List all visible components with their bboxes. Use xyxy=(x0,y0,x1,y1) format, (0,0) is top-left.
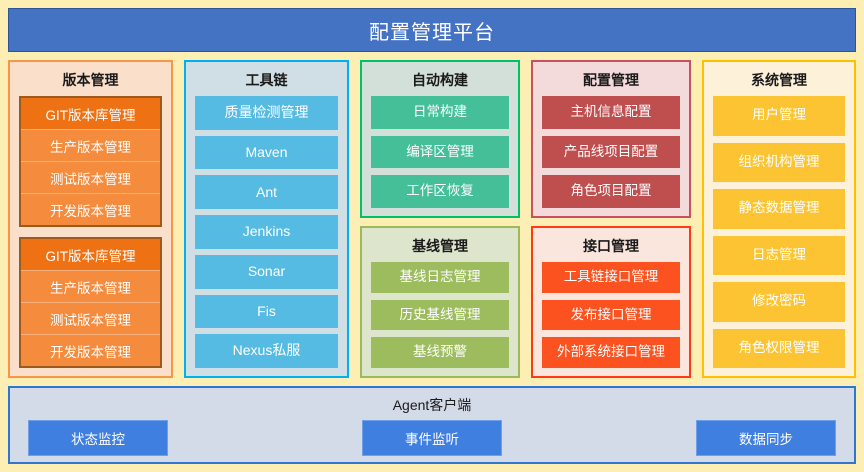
page-title: 配置管理平台 xyxy=(8,8,856,52)
panel-title-toolchain: 工具链 xyxy=(195,67,338,96)
toolchain-item-jenkins[interactable]: Jenkins xyxy=(195,215,338,249)
panel-version-management: 版本管理 GIT版本库管理 生产版本管理 测试版本管理 开发版本管理 GIT版本… xyxy=(8,60,173,378)
column-toolchain: 工具链 质量检测管理 Maven Ant Jenkins Sonar Fis N… xyxy=(184,60,349,378)
version-group-1-item-2[interactable]: 测试版本管理 xyxy=(21,161,160,193)
agent-client-title: Agent客户端 xyxy=(16,392,848,421)
version-group-2-item-3[interactable]: 开发版本管理 xyxy=(21,334,160,366)
column-system-management: 系统管理 用户管理 组织机构管理 静态数据管理 日志管理 修改密码 角色权限管理 xyxy=(702,60,856,378)
version-group-1-header[interactable]: GIT版本库管理 xyxy=(21,98,160,129)
system-item-change-password[interactable]: 修改密码 xyxy=(713,282,845,322)
panel-baseline-management: 基线管理 基线日志管理 历史基线管理 基线预警 xyxy=(360,226,520,378)
panel-title-baseline-management: 基线管理 xyxy=(371,233,509,262)
agent-client-buttons: 状态监控 事件监听 数据同步 xyxy=(16,421,848,454)
agent-button-status-monitor[interactable]: 状态监控 xyxy=(28,420,168,456)
version-group-1: GIT版本库管理 生产版本管理 测试版本管理 开发版本管理 xyxy=(19,96,162,227)
panel-columns: 版本管理 GIT版本库管理 生产版本管理 测试版本管理 开发版本管理 GIT版本… xyxy=(8,60,856,378)
panel-body-config-management: 主机信息配置 产品线项目配置 角色项目配置 xyxy=(542,96,680,208)
system-item-user[interactable]: 用户管理 xyxy=(713,96,845,136)
toolchain-item-fis[interactable]: Fis xyxy=(195,295,338,329)
toolchain-item-ant[interactable]: Ant xyxy=(195,175,338,209)
baseline-item-log[interactable]: 基线日志管理 xyxy=(371,262,509,293)
interface-item-external-system[interactable]: 外部系统接口管理 xyxy=(542,337,680,368)
panel-title-interface-management: 接口管理 xyxy=(542,233,680,262)
version-group-2-item-2[interactable]: 测试版本管理 xyxy=(21,302,160,334)
toolchain-item-sonar[interactable]: Sonar xyxy=(195,255,338,289)
panel-body-interface-management: 工具链接口管理 发布接口管理 外部系统接口管理 xyxy=(542,262,680,368)
panel-body-auto-build: 日常构建 编译区管理 工作区恢复 xyxy=(371,96,509,208)
auto-build-item-workspace-restore[interactable]: 工作区恢复 xyxy=(371,175,509,208)
baseline-item-history[interactable]: 历史基线管理 xyxy=(371,300,509,331)
panel-body-toolchain: 质量检测管理 Maven Ant Jenkins Sonar Fis Nexus… xyxy=(195,96,338,368)
toolchain-item-maven[interactable]: Maven xyxy=(195,136,338,170)
system-item-log[interactable]: 日志管理 xyxy=(713,236,845,276)
column-build-baseline: 自动构建 日常构建 编译区管理 工作区恢复 基线管理 基线日志管理 历史基线管理… xyxy=(360,60,520,378)
column-version-management: 版本管理 GIT版本库管理 生产版本管理 测试版本管理 开发版本管理 GIT版本… xyxy=(8,60,173,378)
interface-item-toolchain[interactable]: 工具链接口管理 xyxy=(542,262,680,293)
page-title-text: 配置管理平台 xyxy=(369,16,495,45)
agent-client-bar: Agent客户端 状态监控 事件监听 数据同步 xyxy=(8,386,856,464)
panel-body-baseline-management: 基线日志管理 历史基线管理 基线预警 xyxy=(371,262,509,368)
panel-title-system-management: 系统管理 xyxy=(713,67,845,96)
baseline-item-alert[interactable]: 基线预警 xyxy=(371,337,509,368)
system-item-role-permission[interactable]: 角色权限管理 xyxy=(713,329,845,369)
auto-build-item-compile-area[interactable]: 编译区管理 xyxy=(371,136,509,169)
panel-system-management: 系统管理 用户管理 组织机构管理 静态数据管理 日志管理 修改密码 角色权限管理 xyxy=(702,60,856,378)
agent-button-event-listener[interactable]: 事件监听 xyxy=(362,420,502,456)
config-item-product-line-project[interactable]: 产品线项目配置 xyxy=(542,136,680,169)
system-item-organization[interactable]: 组织机构管理 xyxy=(713,143,845,183)
config-item-host-info[interactable]: 主机信息配置 xyxy=(542,96,680,129)
version-group-1-item-3[interactable]: 开发版本管理 xyxy=(21,193,160,225)
system-item-static-data[interactable]: 静态数据管理 xyxy=(713,189,845,229)
column-config-interface: 配置管理 主机信息配置 产品线项目配置 角色项目配置 接口管理 工具链接口管理 … xyxy=(531,60,691,378)
toolchain-item-nexus[interactable]: Nexus私服 xyxy=(195,334,338,368)
panel-title-auto-build: 自动构建 xyxy=(371,67,509,96)
panel-title-config-management: 配置管理 xyxy=(542,67,680,96)
panel-toolchain: 工具链 质量检测管理 Maven Ant Jenkins Sonar Fis N… xyxy=(184,60,349,378)
config-item-role-project[interactable]: 角色项目配置 xyxy=(542,175,680,208)
panel-interface-management: 接口管理 工具链接口管理 发布接口管理 外部系统接口管理 xyxy=(531,226,691,378)
panel-title-version-management: 版本管理 xyxy=(19,67,162,96)
panel-body-system-management: 用户管理 组织机构管理 静态数据管理 日志管理 修改密码 角色权限管理 xyxy=(713,96,845,368)
panel-body-version-management: GIT版本库管理 生产版本管理 测试版本管理 开发版本管理 GIT版本库管理 生… xyxy=(19,96,162,368)
auto-build-item-daily[interactable]: 日常构建 xyxy=(371,96,509,129)
agent-button-data-sync[interactable]: 数据同步 xyxy=(696,420,836,456)
configuration-management-platform-diagram: 配置管理平台 版本管理 GIT版本库管理 生产版本管理 测试版本管理 开发版本管… xyxy=(0,0,864,472)
panel-config-management: 配置管理 主机信息配置 产品线项目配置 角色项目配置 xyxy=(531,60,691,218)
interface-item-release[interactable]: 发布接口管理 xyxy=(542,300,680,331)
panel-auto-build: 自动构建 日常构建 编译区管理 工作区恢复 xyxy=(360,60,520,218)
version-group-2-header[interactable]: GIT版本库管理 xyxy=(21,239,160,270)
toolchain-item-quality[interactable]: 质量检测管理 xyxy=(195,96,338,130)
version-group-2-item-1[interactable]: 生产版本管理 xyxy=(21,270,160,302)
version-group-1-item-1[interactable]: 生产版本管理 xyxy=(21,129,160,161)
version-group-2: GIT版本库管理 生产版本管理 测试版本管理 开发版本管理 xyxy=(19,237,162,368)
